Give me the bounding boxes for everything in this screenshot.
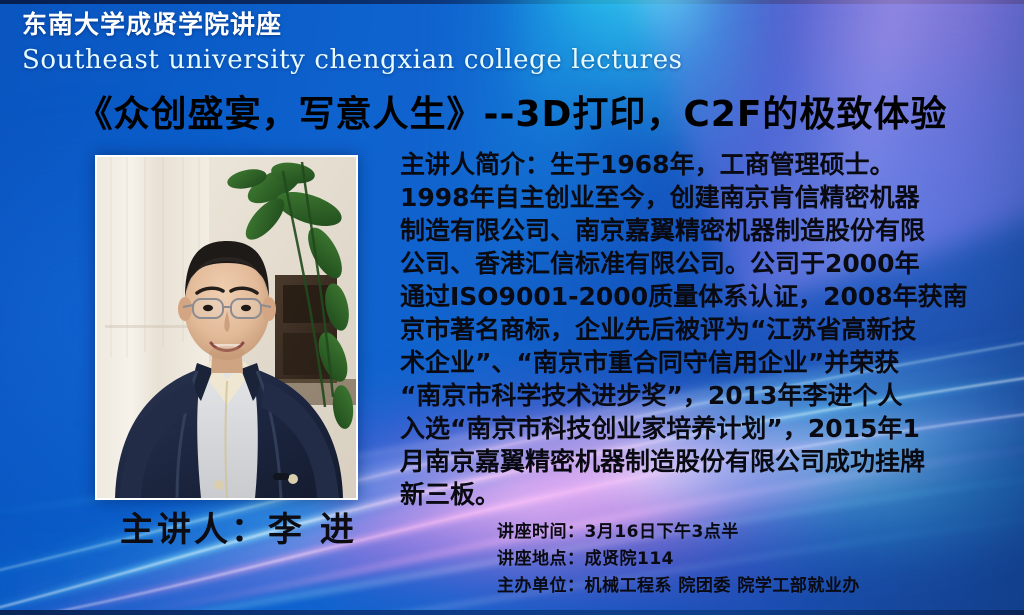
page-title: 《众创盛宴，写意人生》--3D打印，C2F的极致体验 [0, 92, 1024, 138]
bio-line: 制造有限公司、南京嘉翼精密机器制造股份有限 [400, 214, 980, 247]
speaker-name-label: 主讲人：李 进 [120, 508, 357, 552]
poster-header: 东南大学成贤学院讲座 Southeast university chengxia… [22, 8, 683, 77]
bio-line: 入选“南京市科技创业家培养计划”，2015年1 [400, 412, 980, 445]
lecture-time: 讲座时间：3月16日下午3点半 [497, 519, 860, 546]
bio-line: 通过ISO9001-2000质量体系认证，2008年获南 [400, 280, 980, 313]
speaker-photo-frame [95, 155, 358, 500]
lecture-place: 讲座地点：成贤院114 [497, 546, 860, 573]
lecture-poster: 东南大学成贤学院讲座 Southeast university chengxia… [0, 0, 1024, 615]
header-title-cn: 东南大学成贤学院讲座 [22, 8, 683, 42]
lecture-organizer: 主办单位：机械工程系 院团委 院学工部就业办 [497, 573, 860, 600]
bio-line: 术企业”、“南京市重合同守信用企业”并荣获 [400, 346, 980, 379]
bio-line: 新三板。 [400, 478, 980, 511]
bio-line: 主讲人简介：生于1968年，工商管理硕士。 [400, 148, 980, 181]
speaker-bio: 主讲人简介：生于1968年，工商管理硕士。 1998年自主创业至今，创建南京肯信… [400, 148, 980, 511]
bio-line: 公司、香港汇信标准有限公司。公司于2000年 [400, 247, 980, 280]
lecture-info: 讲座时间：3月16日下午3点半 讲座地点：成贤院114 主办单位：机械工程系 院… [497, 519, 860, 600]
poster-content: 东南大学成贤学院讲座 Southeast university chengxia… [0, 0, 1024, 615]
bio-line: 月南京嘉翼精密机器制造股份有限公司成功挂牌 [400, 445, 980, 478]
header-title-en: Southeast university chengxian college l… [22, 43, 683, 77]
bio-line: “南京市科学技术进步奖”，2013年李进个人 [400, 379, 980, 412]
bio-line: 京市著名商标，企业先后被评为“江苏省高新技 [400, 313, 980, 346]
bio-line: 1998年自主创业至今，创建南京肯信精密机器 [400, 181, 980, 214]
speaker-portrait-image [97, 157, 356, 498]
